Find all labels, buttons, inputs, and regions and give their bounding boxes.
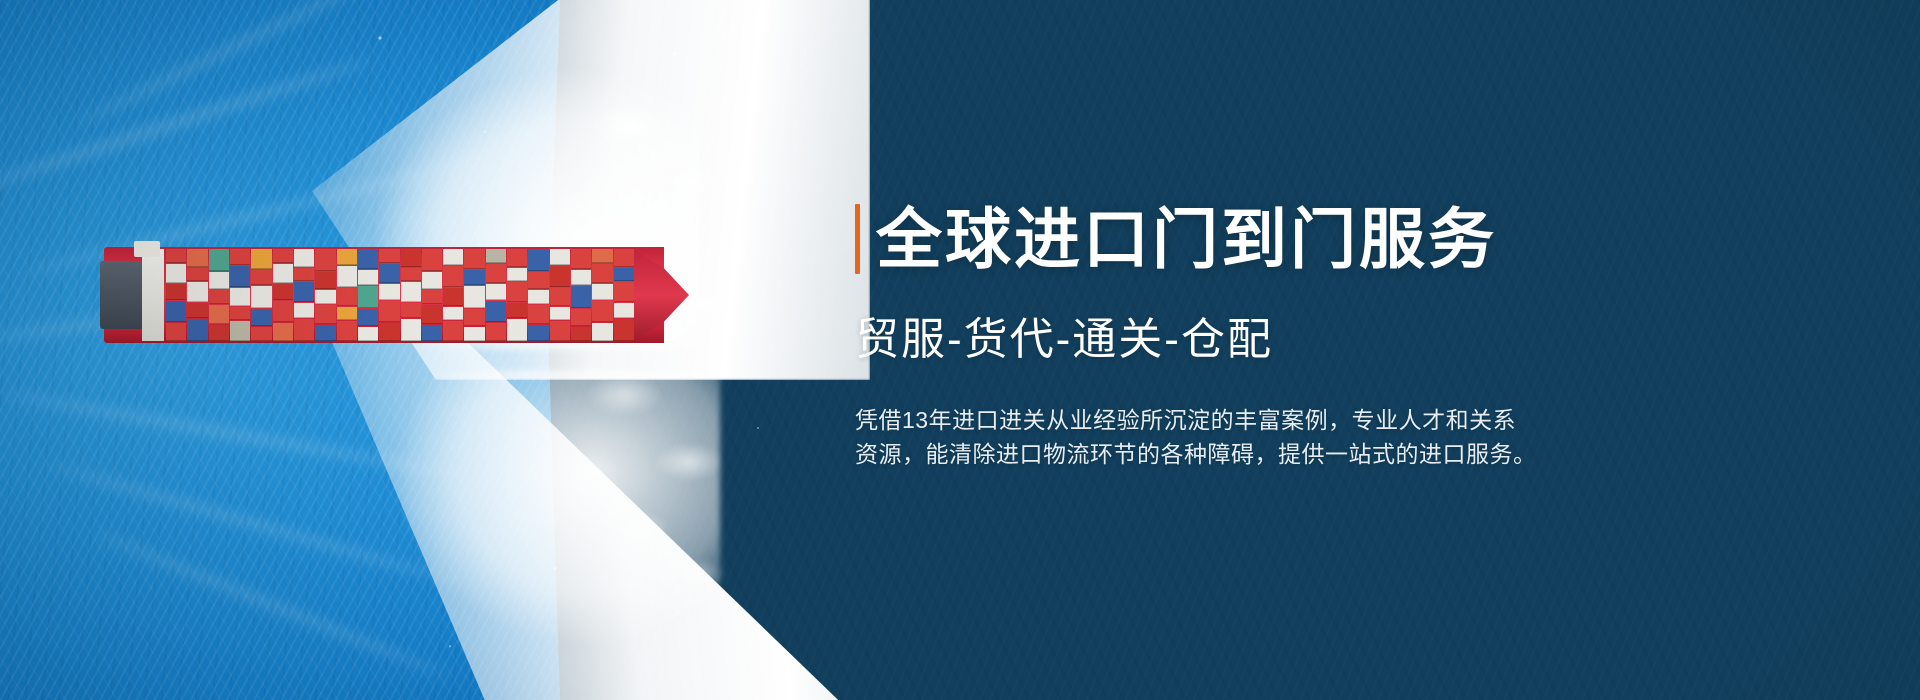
cargo-container xyxy=(209,272,229,290)
cargo-container xyxy=(528,305,548,325)
container-stack xyxy=(401,249,421,341)
container-stack xyxy=(614,249,634,341)
cargo-container xyxy=(187,319,207,341)
cargo-container xyxy=(422,272,442,290)
container-stack xyxy=(443,249,463,341)
cargo-container xyxy=(507,282,527,302)
cargo-container xyxy=(422,249,442,271)
cargo-container xyxy=(528,249,548,271)
cargo-container xyxy=(486,249,506,263)
cargo-container xyxy=(422,325,442,341)
cargo-container xyxy=(251,249,271,269)
cargo-container xyxy=(571,309,591,327)
cargo-container xyxy=(358,327,378,341)
container-stack xyxy=(273,249,293,341)
container-stack xyxy=(507,249,527,341)
cargo-container xyxy=(166,301,186,323)
cargo-container xyxy=(614,268,634,282)
cargo-container xyxy=(528,325,548,341)
cargo-container xyxy=(251,286,271,308)
cargo-container xyxy=(166,264,186,284)
cargo-container xyxy=(315,305,335,325)
cargo-container xyxy=(273,301,293,323)
cargo-container xyxy=(358,270,378,286)
ship-bridge xyxy=(142,249,164,341)
cargo-container xyxy=(315,290,335,304)
cargo-container xyxy=(592,249,612,263)
cargo-container xyxy=(507,303,527,319)
cargo-container xyxy=(187,268,207,282)
cargo-container xyxy=(294,303,314,319)
cargo-container xyxy=(337,266,357,288)
cargo-container xyxy=(209,249,229,271)
cargo-container xyxy=(443,307,463,321)
cargo-container xyxy=(592,323,612,341)
container-stack xyxy=(187,249,207,341)
cargo-container xyxy=(209,290,229,304)
cargo-container xyxy=(230,266,250,288)
banner-content: 全球进口门到门服务 贸服-货代-通关-仓配 凭借13年进口进关从业经验所沉淀的丰… xyxy=(855,196,1855,494)
cargo-container xyxy=(401,282,421,302)
cargo-container xyxy=(187,249,207,267)
cargo-container xyxy=(230,307,250,321)
container-stack xyxy=(486,249,506,341)
cargo-container xyxy=(528,272,548,290)
cargo-container xyxy=(273,284,293,300)
cargo-container xyxy=(550,249,570,265)
cargo-container xyxy=(528,290,548,304)
cargo-container xyxy=(422,290,442,304)
cargo-container xyxy=(443,288,463,306)
hero-banner: 全球进口门到门服务 贸服-货代-通关-仓配 凭借13年进口进关从业经验所沉淀的丰… xyxy=(0,0,1920,700)
cargo-container xyxy=(337,288,357,306)
cargo-container xyxy=(166,249,186,263)
cargo-container xyxy=(230,288,250,306)
cargo-container xyxy=(401,319,421,341)
cargo-container xyxy=(571,286,591,308)
cargo-container xyxy=(251,327,271,341)
cargo-container xyxy=(187,282,207,302)
cargo-container xyxy=(507,249,527,267)
cargo-container xyxy=(592,264,612,284)
cargo-container-grid xyxy=(166,249,634,341)
cargo-container xyxy=(294,249,314,267)
cargo-container xyxy=(337,321,357,341)
cargo-container xyxy=(571,270,591,286)
cargo-container xyxy=(166,323,186,341)
cargo-container xyxy=(230,321,250,341)
container-stack xyxy=(550,249,570,341)
cargo-container xyxy=(379,323,399,341)
container-stack xyxy=(230,249,250,341)
accent-bar xyxy=(855,204,860,274)
cargo-container xyxy=(507,319,527,341)
cargo-container xyxy=(315,249,335,271)
cargo-container xyxy=(251,309,271,327)
cargo-container xyxy=(486,323,506,341)
cargo-container xyxy=(443,266,463,288)
cargo-container xyxy=(294,282,314,302)
cargo-container xyxy=(401,268,421,282)
container-stack xyxy=(592,249,612,341)
container-stack xyxy=(379,249,399,341)
cargo-container xyxy=(315,272,335,290)
cargo-container xyxy=(614,319,634,341)
container-stack xyxy=(294,249,314,341)
cargo-container xyxy=(464,249,484,269)
cargo-container xyxy=(486,264,506,284)
cargo-container xyxy=(486,301,506,323)
ship-stern-block xyxy=(100,261,144,329)
cargo-container xyxy=(315,325,335,341)
container-stack xyxy=(337,249,357,341)
cargo-container xyxy=(337,249,357,265)
cargo-container xyxy=(486,284,506,300)
description-line-1: 凭借13年进口进关从业经验所沉淀的丰富案例，专业人才和关系 xyxy=(855,403,1575,437)
cargo-container xyxy=(550,307,570,321)
container-stack xyxy=(571,249,591,341)
cargo-container xyxy=(273,249,293,263)
container-stack xyxy=(209,249,229,341)
cargo-container xyxy=(273,264,293,284)
description: 凭借13年进口进关从业经验所沉淀的丰富案例，专业人才和关系 资源，能清除进口物流… xyxy=(855,403,1575,471)
bow-churn-foam xyxy=(560,70,790,630)
cargo-container xyxy=(294,268,314,282)
cargo-container xyxy=(379,249,399,263)
cargo-container xyxy=(443,249,463,265)
cargo-container xyxy=(443,321,463,341)
cargo-container xyxy=(230,249,250,265)
cargo-container xyxy=(401,303,421,319)
container-stack xyxy=(251,249,271,341)
cargo-container xyxy=(614,282,634,302)
container-stack xyxy=(464,249,484,341)
cargo-container xyxy=(571,249,591,269)
cargo-container xyxy=(592,284,612,300)
cargo-container xyxy=(337,307,357,321)
container-stack xyxy=(315,249,335,341)
cargo-container xyxy=(294,319,314,341)
cargo-container xyxy=(464,270,484,286)
cargo-container xyxy=(358,309,378,327)
cargo-container xyxy=(550,288,570,306)
cargo-container xyxy=(571,327,591,341)
container-stack xyxy=(422,249,442,341)
cargo-container xyxy=(358,286,378,308)
cargo-container xyxy=(550,321,570,341)
description-line-2: 资源，能清除进口物流环节的各种障碍，提供一站式的进口服务。 xyxy=(855,437,1575,471)
cargo-container xyxy=(614,303,634,319)
cargo-container xyxy=(464,309,484,327)
cargo-container xyxy=(422,305,442,325)
cargo-container xyxy=(614,249,634,267)
cargo-container xyxy=(464,327,484,341)
ship-bridge-top xyxy=(134,241,160,257)
cargo-container xyxy=(251,270,271,286)
cargo-container xyxy=(379,264,399,284)
subtitle: 贸服-货代-通关-仓配 xyxy=(855,314,1855,366)
cargo-container xyxy=(379,301,399,323)
container-ship xyxy=(104,247,664,343)
container-stack xyxy=(528,249,548,341)
cargo-container xyxy=(358,249,378,269)
cargo-container xyxy=(187,303,207,319)
cargo-container xyxy=(209,305,229,325)
cargo-container xyxy=(550,266,570,288)
cargo-container xyxy=(592,301,612,323)
cargo-container xyxy=(166,284,186,300)
container-stack xyxy=(358,249,378,341)
cargo-container xyxy=(209,325,229,341)
cargo-container xyxy=(401,249,421,267)
cargo-container xyxy=(464,286,484,308)
headline-row: 全球进口门到门服务 xyxy=(855,196,1855,282)
cargo-container xyxy=(273,323,293,341)
cargo-container xyxy=(379,284,399,300)
cargo-container xyxy=(507,268,527,282)
container-stack xyxy=(166,249,186,341)
page-title: 全球进口门到门服务 xyxy=(876,204,1497,274)
